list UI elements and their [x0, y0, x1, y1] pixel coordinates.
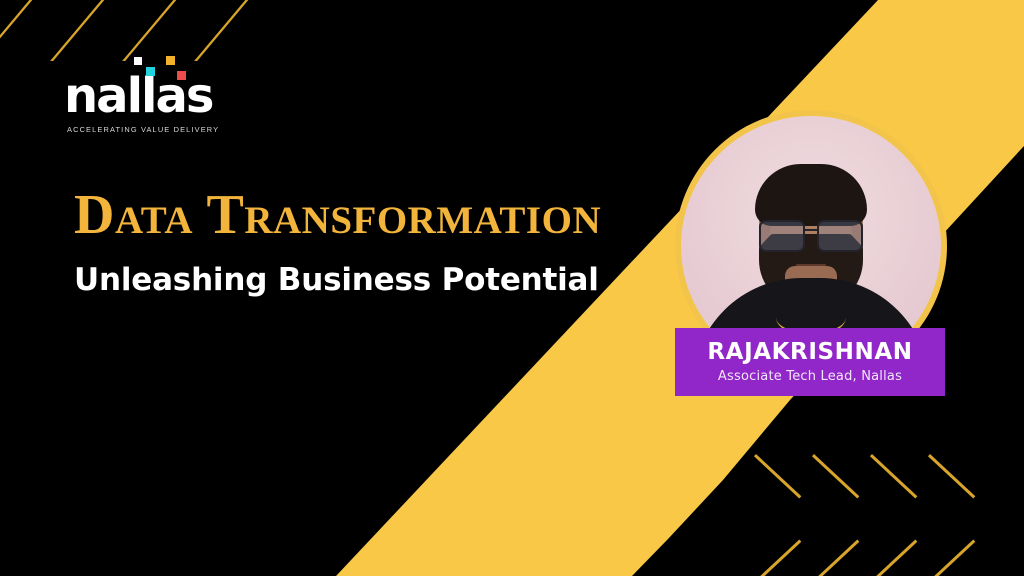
logo-tagline: ACCELERATING VALUE DELIVERY	[64, 125, 264, 134]
logo-dot-yellow-icon	[166, 56, 175, 65]
logo-dot-white-icon	[134, 57, 142, 65]
logo-dot-cyan-icon	[146, 67, 155, 76]
logo-dots-decoration	[120, 56, 200, 78]
chevron-icon	[814, 454, 876, 576]
glasses-lens-right	[817, 220, 863, 252]
speaker-name-badge: RAJAKRISHNAN Associate Tech Lead, Nallas	[675, 328, 945, 396]
chevron-icon	[756, 454, 818, 576]
logo-wordmark: nallas	[64, 74, 264, 120]
chevron-icon	[930, 454, 992, 576]
presentation-slide: nallas ACCELERATING VALUE DELIVERY Data …	[0, 0, 1024, 576]
slide-subtitle: Unleashing Business Potential	[74, 262, 599, 298]
chevron-icon	[872, 454, 934, 576]
glasses-lens-left	[759, 220, 805, 252]
speaker-role: Associate Tech Lead, Nallas	[718, 369, 902, 384]
slide-title: Data Transformation	[74, 186, 601, 245]
bottom-right-chevron-group	[752, 436, 1024, 576]
nallas-logo: nallas ACCELERATING VALUE DELIVERY	[64, 56, 264, 134]
speaker-name: RAJAKRISHNAN	[707, 340, 912, 364]
logo-dot-red-icon	[177, 71, 186, 80]
portrait-glasses-icon	[759, 220, 863, 250]
portrait-hair	[755, 164, 867, 226]
